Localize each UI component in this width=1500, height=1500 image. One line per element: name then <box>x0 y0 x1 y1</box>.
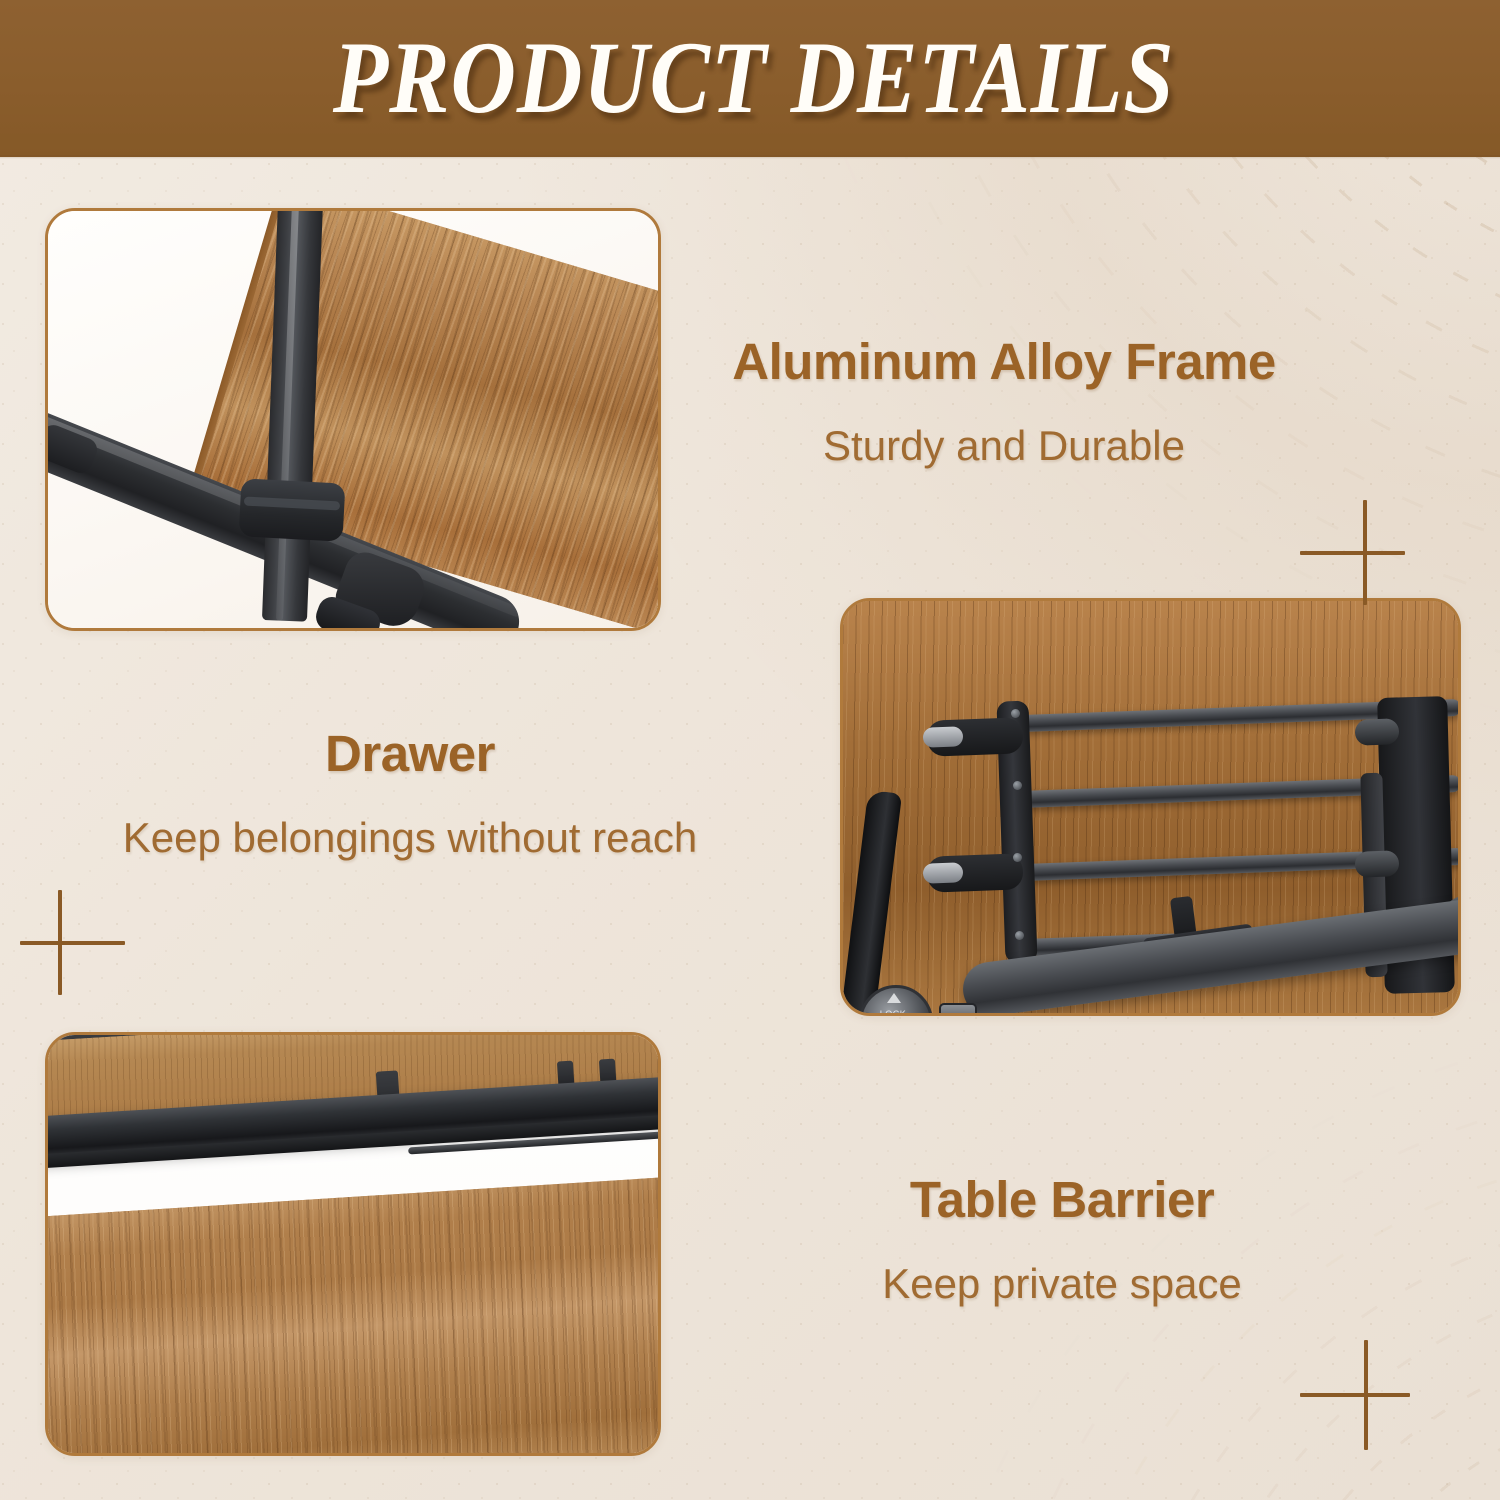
screw-head <box>1015 931 1024 940</box>
rail-pin-lower <box>923 862 964 883</box>
photo-panel-aluminum-alloy-frame <box>45 208 661 631</box>
feature-subheading: Keep belongings without reach <box>60 815 760 861</box>
cross-mark-icon <box>1300 1340 1410 1450</box>
photo-drawer-rails: LOCK <box>843 601 1458 1013</box>
header-banner: PRODUCT DETAILS <box>0 0 1500 157</box>
feature-text-aluminum-alloy-frame: Aluminum Alloy Frame Sturdy and Durable <box>694 334 1314 469</box>
feature-heading: Aluminum Alloy Frame <box>694 334 1314 390</box>
page-title: PRODUCT DETAILS <box>326 27 1175 130</box>
banner-bottom-edge <box>0 155 1500 159</box>
table-barrier-board <box>48 1171 658 1453</box>
photo-table-barrier <box>48 1035 658 1453</box>
lock-dial-label: LOCK <box>859 1009 927 1013</box>
product-details-infographic: PRODUCT DETAILS <box>0 0 1500 1500</box>
rail-pin-upper <box>923 726 964 747</box>
feature-text-drawer: Drawer Keep belongings without reach <box>60 726 760 861</box>
feature-subheading: Keep private space <box>752 1261 1372 1307</box>
cross-mark-icon <box>1300 500 1405 605</box>
screw-head <box>1013 781 1022 790</box>
release-button <box>939 1003 977 1013</box>
feature-subheading: Sturdy and Durable <box>694 423 1314 469</box>
feature-heading: Table Barrier <box>752 1172 1372 1228</box>
feature-text-table-barrier: Table Barrier Keep private space <box>752 1172 1372 1307</box>
photo-panel-table-barrier <box>45 1032 661 1456</box>
feature-heading: Drawer <box>60 726 760 782</box>
rail-roller-upper <box>1355 718 1400 746</box>
screw-head <box>1011 709 1020 718</box>
photo-panel-drawer: LOCK <box>840 598 1461 1016</box>
rail-roller-lower <box>1355 850 1400 878</box>
screw-head <box>1013 853 1022 862</box>
lock-dial-arrow-icon <box>887 993 901 1003</box>
photo-aluminum-alloy-frame <box>48 211 658 628</box>
cross-mark-icon <box>20 890 125 995</box>
wood-knot <box>533 1440 658 1453</box>
